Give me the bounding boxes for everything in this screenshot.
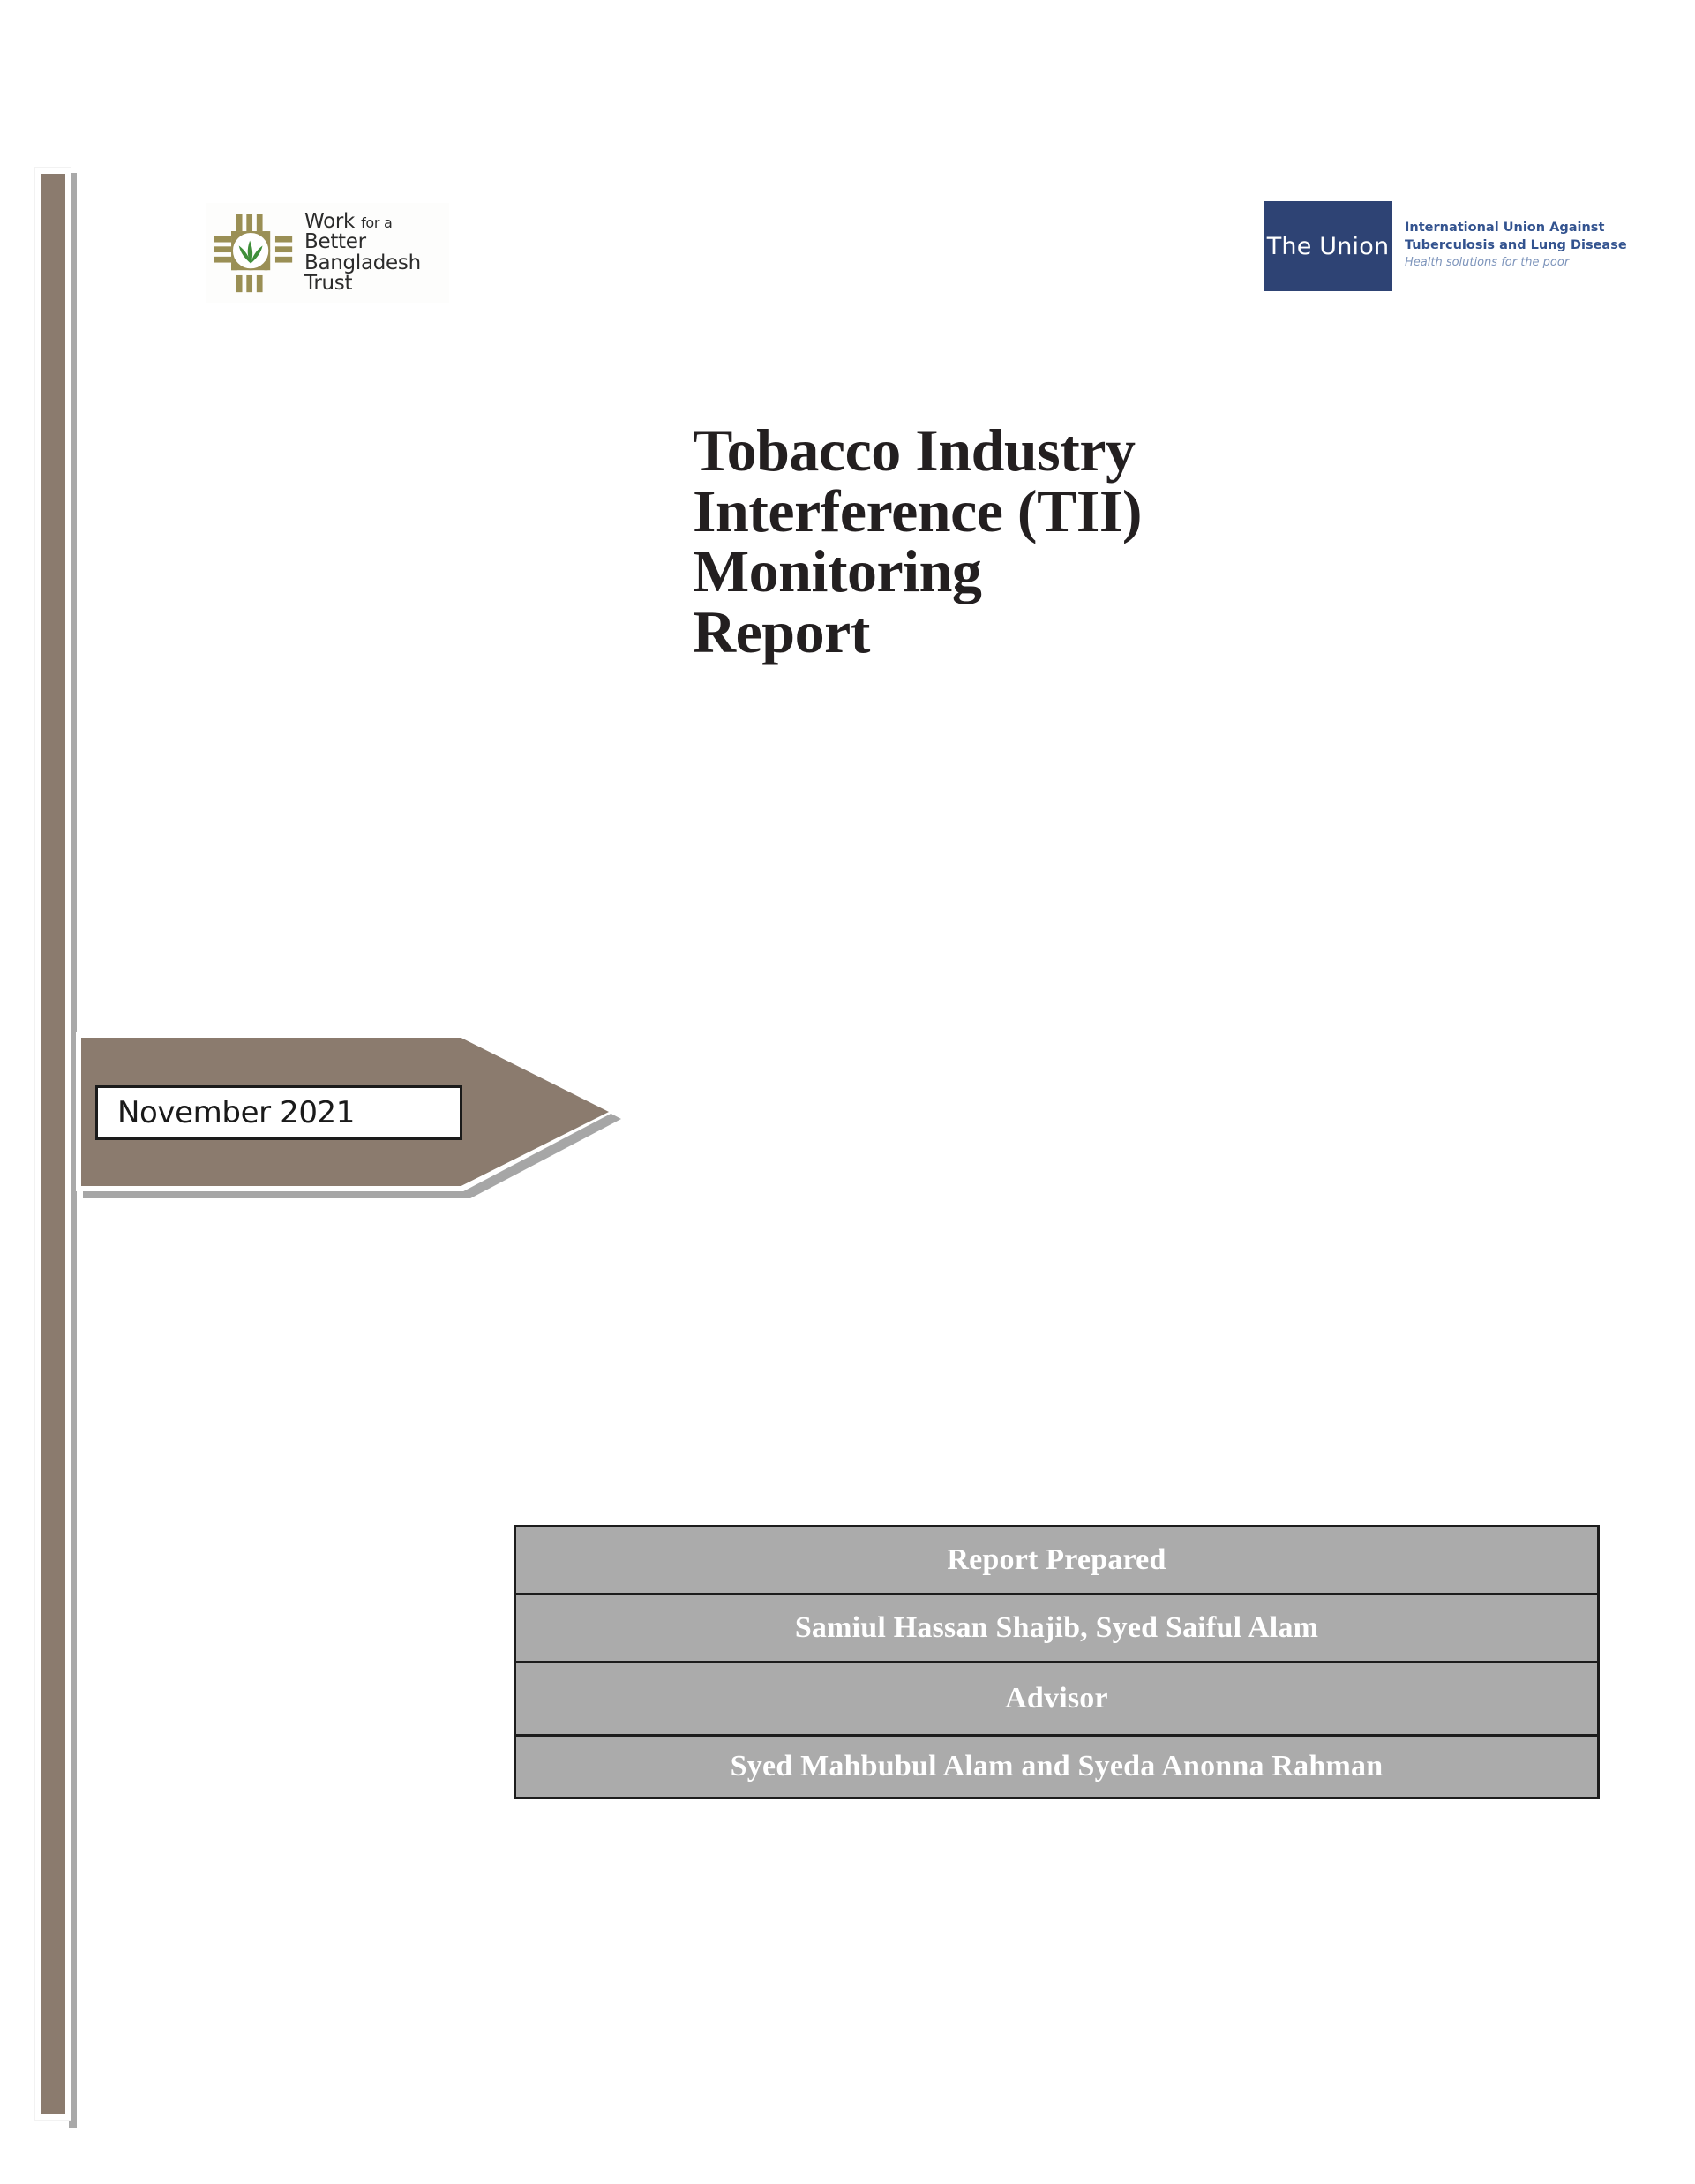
wbb-trust-logo: Work for a Better Bangladesh Trust <box>206 203 449 303</box>
page-title-line-3: Monitoring <box>693 541 1363 602</box>
page-title-line-2: Interference (TII) <box>693 481 1363 542</box>
table-row: Report Prepared <box>515 1527 1599 1595</box>
credits-advisor-label: Advisor <box>515 1662 1599 1736</box>
left-accent-bar <box>41 174 65 2114</box>
union-logo-box-text: The Union <box>1267 233 1390 260</box>
union-tagline-line-2: Tuberculosis and Lung Disease <box>1405 237 1627 254</box>
wbb-wordmark-line-3: Bangladesh <box>304 253 421 274</box>
wbb-wordmark-line-4: Trust <box>304 274 421 294</box>
document-page: Work for a Better Bangladesh Trust The U… <box>0 0 1695 2184</box>
publication-date: November 2021 <box>98 1095 355 1130</box>
credits-report-prepared-value: Samiul Hassan Shajib, Syed Saiful Alam <box>515 1595 1599 1662</box>
credits-table: Report Prepared Samiul Hassan Shajib, Sy… <box>514 1525 1600 1799</box>
the-union-logo: The Union International Union Against Tu… <box>1264 201 1581 291</box>
date-box: November 2021 <box>95 1085 462 1140</box>
wbb-wordmark-line-2: Better <box>304 232 421 252</box>
page-title-line-1: Tobacco Industry <box>693 420 1363 481</box>
credits-advisor-value: Syed Mahbubul Alam and Syeda Anonna Rahm… <box>515 1736 1599 1798</box>
page-title-line-4: Report <box>693 602 1363 663</box>
date-arrow-banner: November 2021 <box>74 1031 630 1200</box>
credits-report-prepared-label: Report Prepared <box>515 1527 1599 1595</box>
page-title: Tobacco Industry Interference (TII) Moni… <box>693 420 1363 663</box>
union-tagline-line-3: Health solutions for the poor <box>1405 254 1627 273</box>
union-logo-box: The Union <box>1264 201 1392 291</box>
table-row: Syed Mahbubul Alam and Syeda Anonna Rahm… <box>515 1736 1599 1798</box>
wbb-wordmark-line-1: Work for a <box>304 212 421 232</box>
wbb-wordmark: Work for a Better Bangladesh Trust <box>304 212 421 295</box>
wbb-mandala-leaf-icon <box>211 211 296 296</box>
table-row: Samiul Hassan Shajib, Syed Saiful Alam <box>515 1595 1599 1662</box>
union-tagline-line-1: International Union Against <box>1405 220 1627 236</box>
union-logo-tagline: International Union Against Tuberculosis… <box>1392 201 1627 291</box>
table-row: Advisor <box>515 1662 1599 1736</box>
